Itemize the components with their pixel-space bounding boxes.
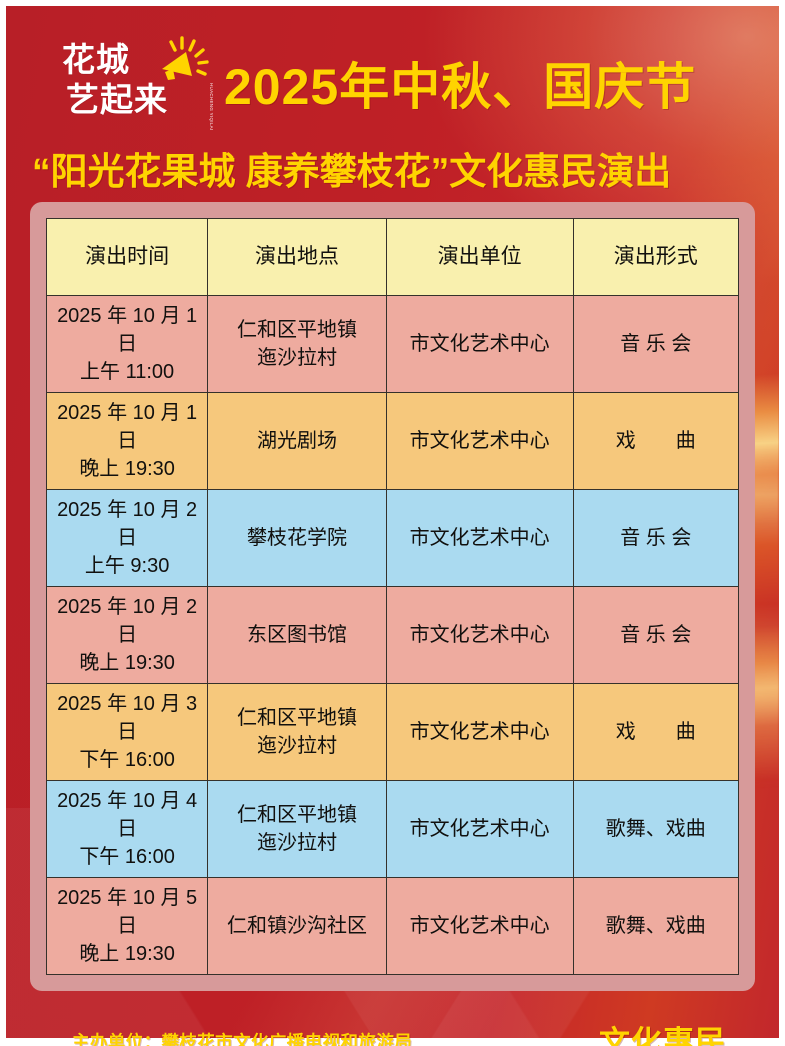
table-row: 2025 年 10 月 5 日 晚上 19:30仁和镇沙沟社区市文化艺术中心歌舞… — [47, 878, 739, 975]
logo-micro-text: HUACHENG YIQILAI — [204, 83, 214, 130]
cell-place: 仁和区平地镇 迤沙拉村 — [208, 684, 387, 781]
cell-time: 2025 年 10 月 2 日 上午 9:30 — [47, 490, 208, 587]
table-row: 2025 年 10 月 1 日 晚上 19:30湖光剧场市文化艺术中心戏 曲 — [47, 393, 739, 490]
cell-time: 2025 年 10 月 2 日 晚上 19:30 — [47, 587, 208, 684]
cell-unit: 市文化艺术中心 — [386, 684, 573, 781]
cell-form: 歌舞、戏曲 — [573, 781, 738, 878]
column-header-form: 演出形式 — [573, 219, 738, 296]
schedule-table: 演出时间 演出地点 演出单位 演出形式 2025 年 10 月 1 日 上午 1… — [46, 218, 739, 975]
cell-place: 攀枝花学院 — [208, 490, 387, 587]
table-header-row: 演出时间 演出地点 演出单位 演出形式 — [47, 219, 739, 296]
column-header-place: 演出地点 — [208, 219, 387, 296]
table-row: 2025 年 10 月 2 日 晚上 19:30东区图书馆市文化艺术中心音 乐 … — [47, 587, 739, 684]
brand-logo: 花城 艺起来 HUACHENG YIQILAI — [62, 40, 212, 132]
event-poster: 花城 艺起来 HUACHENG YIQILAI 2025 — [0, 0, 785, 1046]
cell-unit: 市文化艺术中心 — [386, 296, 573, 393]
cell-time: 2025 年 10 月 4 日 下午 16:00 — [47, 781, 208, 878]
megaphone-icon — [156, 36, 210, 92]
cell-place: 仁和区平地镇 迤沙拉村 — [208, 781, 387, 878]
column-header-time: 演出时间 — [47, 219, 208, 296]
cell-form: 戏 曲 — [573, 393, 738, 490]
poster-footer: 主办单位：攀枝花市文化广播电视和旅游局 承 办：攀枝花市文化艺术中心 协 办：仁… — [6, 1013, 779, 1046]
cell-form: 歌舞、戏曲 — [573, 878, 738, 975]
cell-time: 2025 年 10 月 1 日 晚上 19:30 — [47, 393, 208, 490]
cell-form: 音 乐 会 — [573, 587, 738, 684]
table-row: 2025 年 10 月 1 日 上午 11:00仁和区平地镇 迤沙拉村市文化艺术… — [47, 296, 739, 393]
page-title: 2025年中秋、国庆节 — [224, 58, 696, 116]
cell-unit: 市文化艺术中心 — [386, 490, 573, 587]
cell-time: 2025 年 10 月 5 日 晚上 19:30 — [47, 878, 208, 975]
poster-header: 花城 艺起来 HUACHENG YIQILAI 2025 — [6, 6, 779, 202]
cell-unit: 市文化艺术中心 — [386, 393, 573, 490]
table-row: 2025 年 10 月 4 日 下午 16:00仁和区平地镇 迤沙拉村市文化艺术… — [47, 781, 739, 878]
slogan-block: 文化惠民 公益演出 — [599, 1023, 727, 1046]
cell-place: 东区图书馆 — [208, 587, 387, 684]
cell-time: 2025 年 10 月 3 日 下午 16:00 — [47, 684, 208, 781]
cell-form: 音 乐 会 — [573, 490, 738, 587]
cell-place: 仁和区平地镇 迤沙拉村 — [208, 296, 387, 393]
page-subtitle: “阳光花果城 康养攀枝花”文化惠民演出 — [32, 149, 769, 195]
table-row: 2025 年 10 月 3 日 下午 16:00仁和区平地镇 迤沙拉村市文化艺术… — [47, 684, 739, 781]
table-row: 2025 年 10 月 2 日 上午 9:30攀枝花学院市文化艺术中心音 乐 会 — [47, 490, 739, 587]
cell-time: 2025 年 10 月 1 日 上午 11:00 — [47, 296, 208, 393]
schedule-table-frame: 演出时间 演出地点 演出单位 演出形式 2025 年 10 月 1 日 上午 1… — [30, 202, 755, 991]
cell-form: 戏 曲 — [573, 684, 738, 781]
column-header-unit: 演出单位 — [386, 219, 573, 296]
cell-unit: 市文化艺术中心 — [386, 878, 573, 975]
cell-unit: 市文化艺术中心 — [386, 781, 573, 878]
slogan-line-1: 文化惠民 — [599, 1023, 727, 1046]
cell-form: 音 乐 会 — [573, 296, 738, 393]
cell-unit: 市文化艺术中心 — [386, 587, 573, 684]
cell-place: 仁和镇沙沟社区 — [208, 878, 387, 975]
cell-place: 湖光剧场 — [208, 393, 387, 490]
